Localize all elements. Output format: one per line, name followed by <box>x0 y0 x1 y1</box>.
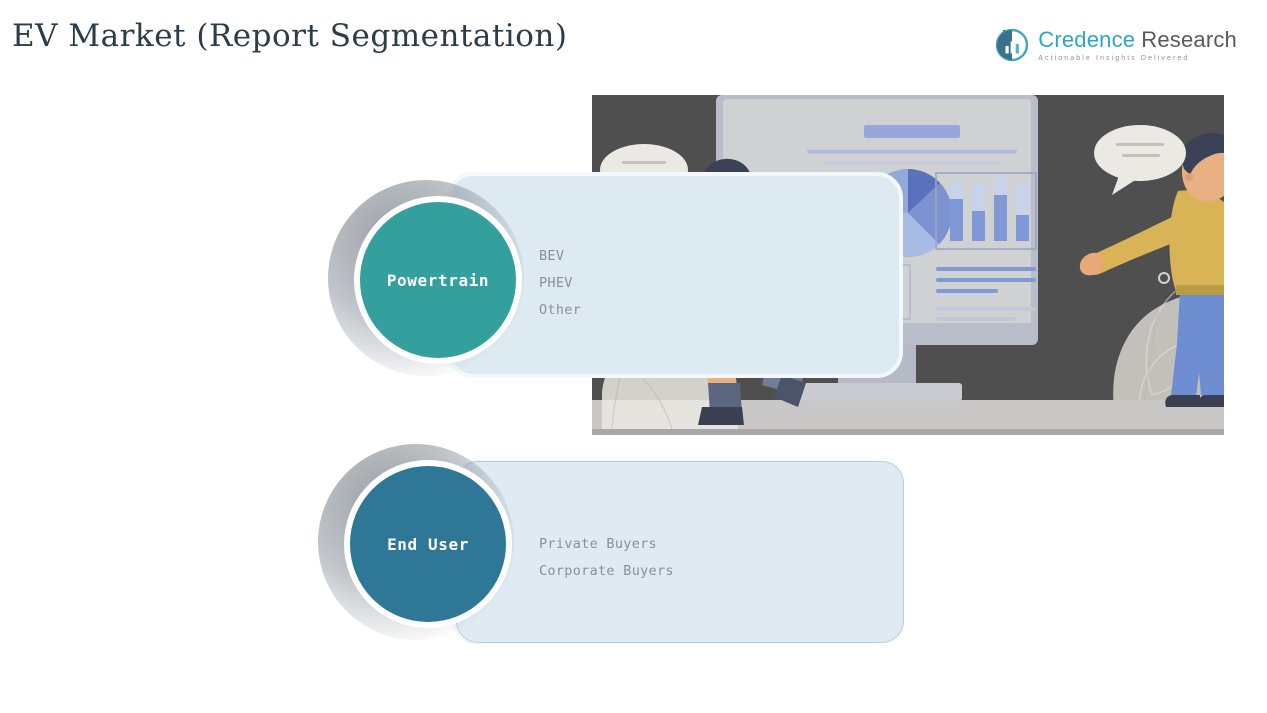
powertrain-circle-label: Powertrain <box>387 271 489 290</box>
page-title: EV Market (Report Segmentation) <box>12 18 567 54</box>
end-user-item-list: Private Buyers Corporate Buyers <box>539 531 674 585</box>
powertrain-item: PHEV <box>539 270 581 297</box>
bar-chart-circle-icon <box>995 28 1029 62</box>
powertrain-item-list: BEV PHEV Other <box>539 243 581 324</box>
brand-name: CredenceResearch <box>1038 29 1237 51</box>
brand-tagline: Actionable Insights Delivered <box>1038 55 1237 62</box>
brand-name-word2: Research <box>1141 27 1237 52</box>
powertrain-item: Other <box>539 297 581 324</box>
brand-name-word1: Credence <box>1038 27 1135 52</box>
end-user-circle[interactable]: End User <box>344 460 512 628</box>
powertrain-item: BEV <box>539 243 581 270</box>
brand-logo: CredenceResearch Actionable Insights Del… <box>995 28 1237 62</box>
end-user-panel[interactable] <box>456 461 904 643</box>
powertrain-circle[interactable]: Powertrain <box>354 196 522 364</box>
end-user-circle-label: End User <box>387 535 469 554</box>
end-user-item: Private Buyers <box>539 531 674 558</box>
end-user-item: Corporate Buyers <box>539 558 674 585</box>
